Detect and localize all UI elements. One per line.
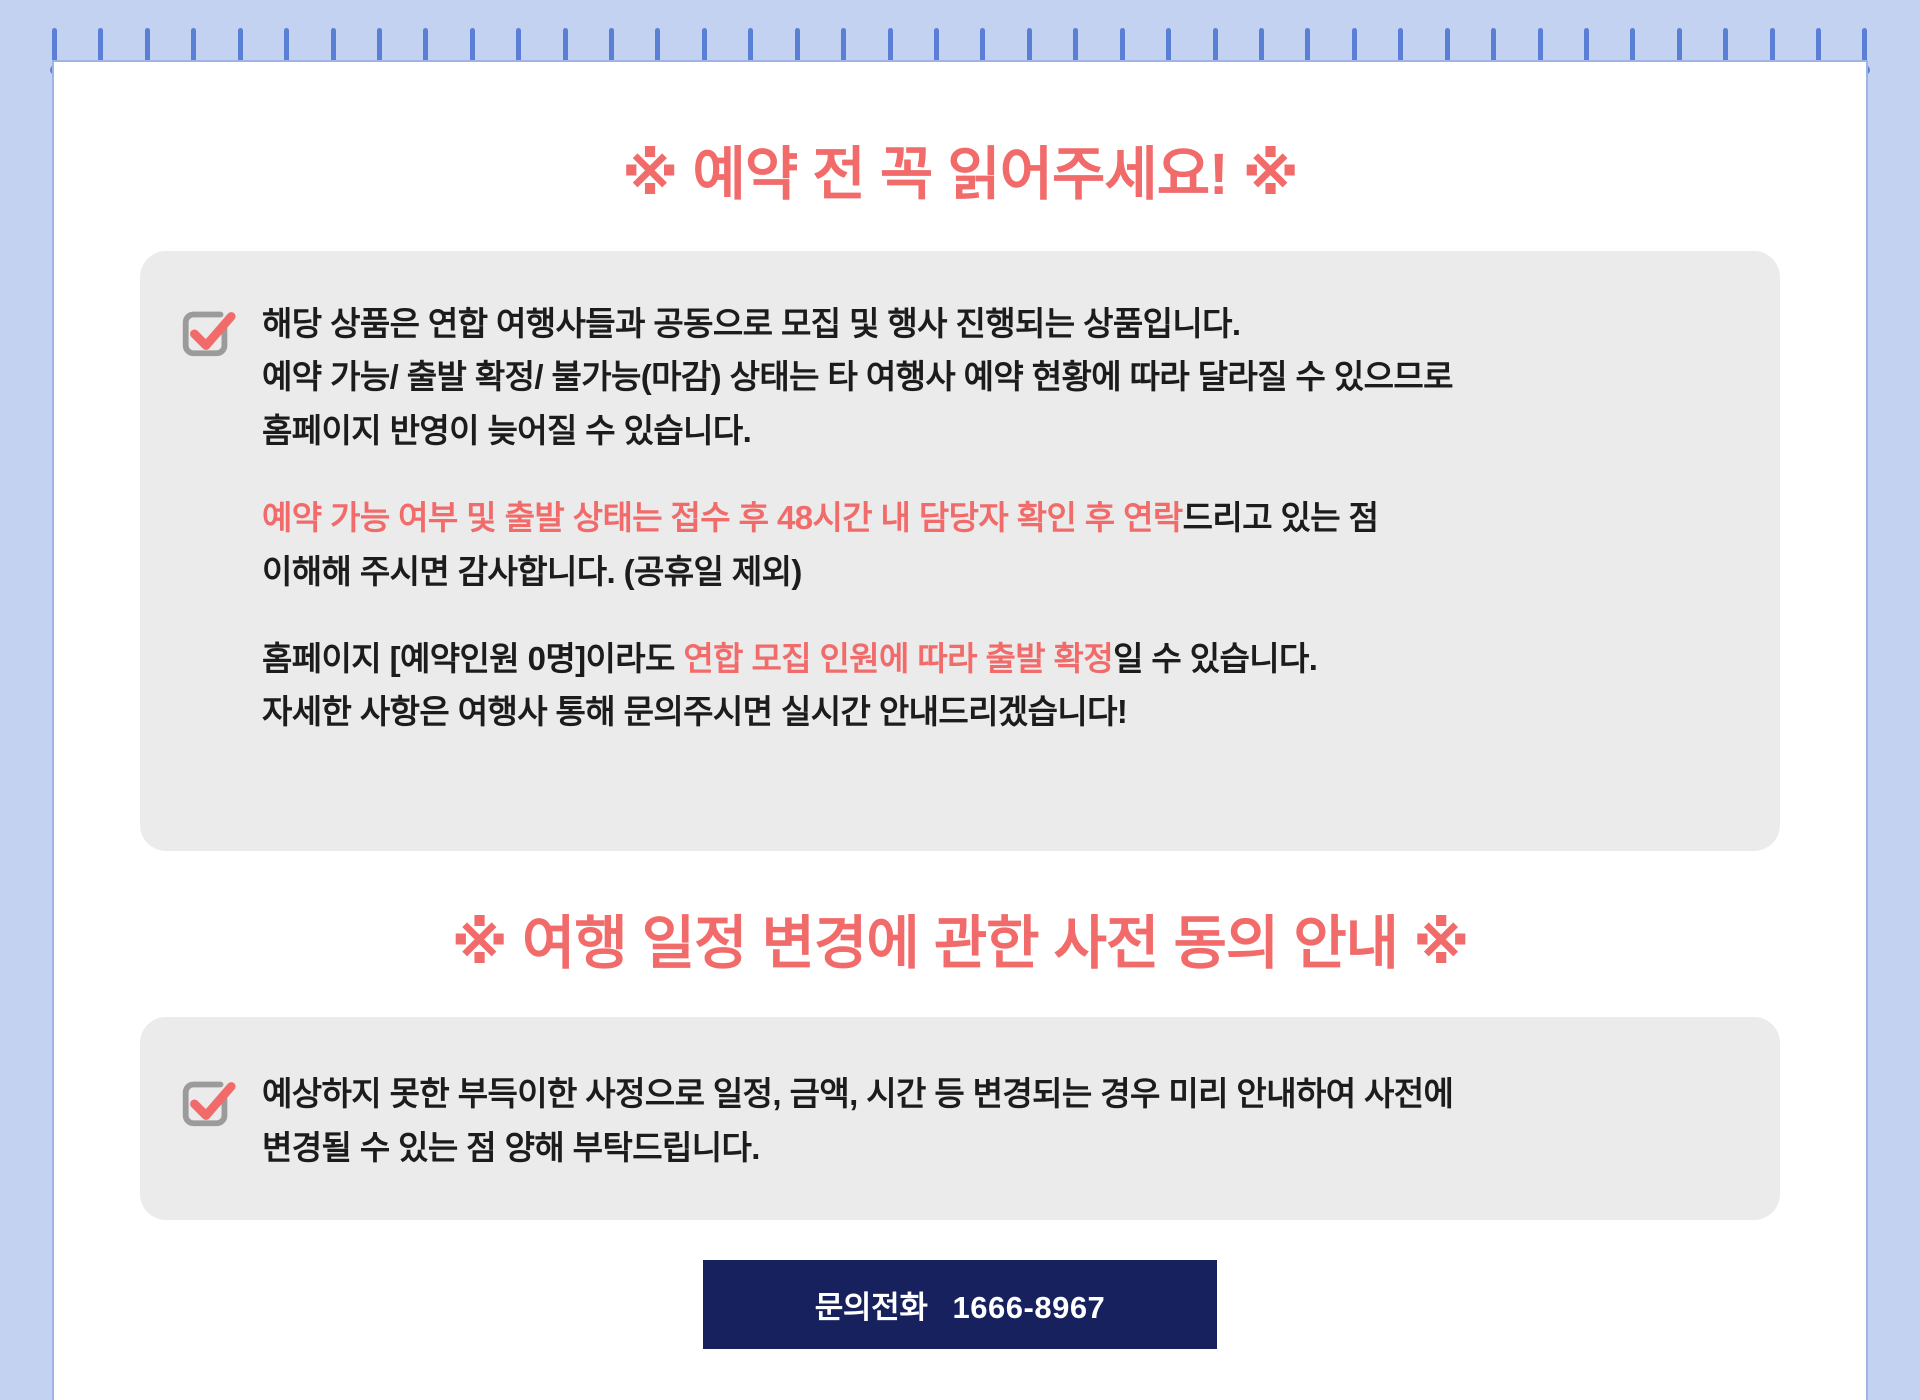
contact-phone-button[interactable]: 문의전화 1666-8967 [703,1260,1218,1349]
body-text: 일 수 있습니다. [1113,640,1317,677]
notice-sheet: ※ 예약 전 꼭 읽어주세요! ※ 해당 상품은 연합 여행사들과 공동으로 모… [52,60,1868,1400]
cta-label: 문의전화 [815,1290,945,1325]
notice-line: 예약 가능/ 출발 확정/ 불가능(마감) 상태는 타 여행사 예약 현황에 따… [262,350,1732,403]
notice-paragraph: 홈페이지 [예약인원 0명]이라도 연합 모집 인원에 따라 출발 확정일 수 … [262,632,1732,739]
body-text: 홈페이지 반영이 늦어질 수 있습니다. [262,412,751,449]
notice-panel-booking: 해당 상품은 연합 여행사들과 공동으로 모집 및 행사 진행되는 상품입니다.… [140,251,1780,851]
body-text: 예상하지 못한 부득이한 사정으로 일정, 금액, 시간 등 변경되는 경우 미… [262,1075,1453,1112]
body-text: 예약 가능/ 출발 확정/ 불가능(마감) 상태는 타 여행사 예약 현황에 따… [262,358,1453,395]
body-text: 변경될 수 있는 점 양해 부탁드립니다. [262,1129,760,1166]
body-text: 해당 상품은 연합 여행사들과 공동으로 모집 및 행사 진행되는 상품입니다. [262,305,1241,342]
notice-line: 자세한 사항은 여행사 통해 문의주시면 실시간 안내드리겠습니다! [262,685,1732,738]
notice-paragraph: 예약 가능 여부 및 출발 상태는 접수 후 48시간 내 담당자 확인 후 연… [262,491,1732,598]
notice-line: 홈페이지 [예약인원 0명]이라도 연합 모집 인원에 따라 출발 확정일 수 … [262,632,1732,685]
checkbox-checked-icon [176,299,238,361]
notice-line: 변경될 수 있는 점 양해 부탁드립니다. [262,1121,1732,1174]
body-text: 이해해 주시면 감사합니다. (공휴일 제외) [262,553,802,590]
notice-panel-schedule-change: 예상하지 못한 부득이한 사정으로 일정, 금액, 시간 등 변경되는 경우 미… [140,1017,1780,1220]
notice-line: 예약 가능 여부 및 출발 상태는 접수 후 48시간 내 담당자 확인 후 연… [262,491,1732,544]
cta-phone-number: 1666-8967 [953,1290,1106,1325]
notice-line: 해당 상품은 연합 여행사들과 공동으로 모집 및 행사 진행되는 상품입니다. [262,297,1732,350]
highlighted-text: 예약 가능 여부 및 출발 상태는 접수 후 48시간 내 담당자 확인 후 연… [262,499,1183,536]
notice-body-schedule-change: 예상하지 못한 부득이한 사정으로 일정, 금액, 시간 등 변경되는 경우 미… [262,1065,1732,1174]
body-text: 홈페이지 [예약인원 0명]이라도 [262,640,683,677]
notice-line: 이해해 주시면 감사합니다. (공휴일 제외) [262,545,1732,598]
checkbox-checked-icon [176,1069,238,1131]
cta-container: 문의전화 1666-8967 [140,1260,1780,1349]
body-text: 자세한 사항은 여행사 통해 문의주시면 실시간 안내드리겠습니다! [262,693,1127,730]
notice-paragraph: 해당 상품은 연합 여행사들과 공동으로 모집 및 행사 진행되는 상품입니다.… [262,297,1732,457]
notice-line: 홈페이지 반영이 늦어질 수 있습니다. [262,404,1732,457]
section-title-booking-notice: ※ 예약 전 꼭 읽어주세요! ※ [140,142,1780,209]
notice-body-booking: 해당 상품은 연합 여행사들과 공동으로 모집 및 행사 진행되는 상품입니다.… [262,295,1732,739]
notice-page: ※ 예약 전 꼭 읽어주세요! ※ 해당 상품은 연합 여행사들과 공동으로 모… [0,0,1920,1400]
notice-paragraph: 예상하지 못한 부득이한 사정으로 일정, 금액, 시간 등 변경되는 경우 미… [262,1067,1732,1174]
body-text: 드리고 있는 점 [1183,499,1379,536]
notice-line: 예상하지 못한 부득이한 사정으로 일정, 금액, 시간 등 변경되는 경우 미… [262,1067,1732,1120]
section-title-schedule-change: ※ 여행 일정 변경에 관한 사전 동의 안내 ※ [140,911,1780,978]
highlighted-text: 연합 모집 인원에 따라 출발 확정 [683,640,1113,677]
